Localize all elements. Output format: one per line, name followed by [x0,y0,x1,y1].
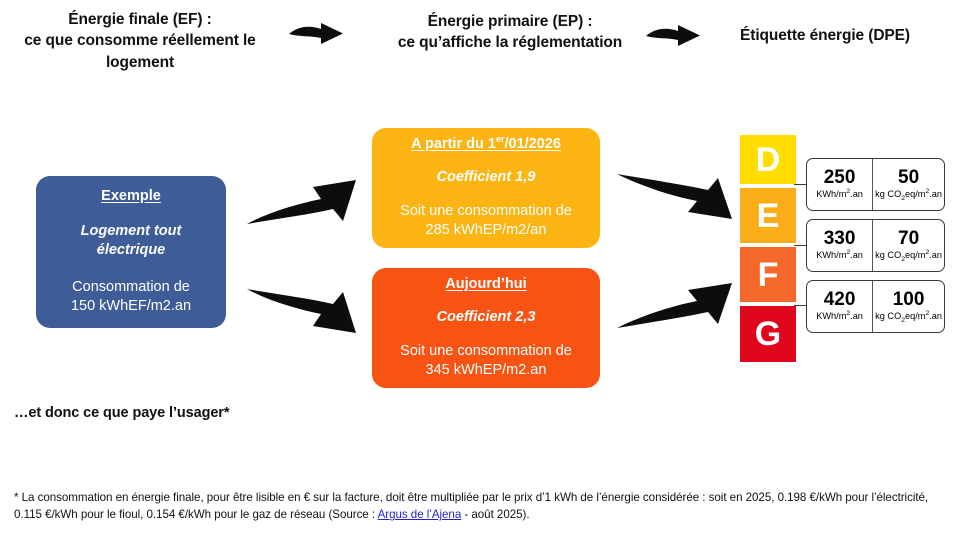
scenario-future-title-suffix: /01/2026 [504,136,560,152]
dpe-threshold-2-energy: 330 KWh/m2.an [807,220,872,271]
dpe-threshold-2-energy-unit: KWh/m2.an [816,250,863,261]
dpe-threshold-box-3[interactable]: 420 KWh/m2.an 100 kg CO2eq/m2.an [806,280,945,333]
arrow-orange-to-dpe [613,272,738,334]
dpe-threshold-1-energy-value: 250 [824,168,856,188]
dpe-threshold-2-co2: 70 kg CO2eq/m2.an [872,220,944,271]
scenario-future-consumption: Soit une consommation de 285 kWhEP/m2/an [400,202,572,240]
dpe-threshold-3-energy: 420 KWh/m2.an [807,281,872,332]
footnote-source-link[interactable]: Argus de l’Ajena [378,508,462,521]
example-box-title: Exemple [101,188,161,204]
dpe-threshold-3-co2-unit: kg CO2eq/m2.an [875,311,942,322]
scenario-today-title: Aujourd’hui [445,276,526,292]
dpe-letter-E[interactable]: E [740,188,796,243]
dpe-threshold-3-energy-unit: KWh/m2.an [816,311,863,322]
dpe-threshold-3-co2: 100 kg CO2eq/m2.an [872,281,944,332]
header-arrow-2 [645,22,701,52]
arrow-blue-to-yellow [243,168,363,230]
header-title-energie-primaire: Énergie primaire (EP) : ce qu’affiche la… [385,11,635,54]
dpe-threshold-1-co2-value: 50 [898,168,919,188]
dpe-threshold-2-co2-value: 70 [898,229,919,249]
dpe-threshold-box-1[interactable]: 250 KWh/m2.an 50 kg CO2eq/m2.an [806,158,945,211]
dpe-letter-D[interactable]: D [740,135,796,184]
scenario-future-title-prefix: A partir du 1 [411,136,496,152]
dpe-letter-F[interactable]: F [740,247,796,302]
header-title-etiquette-dpe: Étiquette énergie (DPE) [700,25,950,46]
header-arrow-1 [288,20,344,50]
example-box-consumption: Consommation de 150 kWhEF/m2.an [71,278,191,316]
dpe-threshold-box-2[interactable]: 330 KWh/m2.an 70 kg CO2eq/m2.an [806,219,945,272]
dpe-threshold-1-co2-unit: kg CO2eq/m2.an [875,189,942,200]
infographic-canvas: Énergie finale (EF) : ce que consomme ré… [0,0,960,544]
usager-caption: …et donc ce que paye l’usager* [14,405,229,421]
dpe-threshold-2-energy-value: 330 [824,229,856,249]
scenario-box-future[interactable]: A partir du 1er/01/2026 Coefficient 1,9 … [372,128,600,248]
dpe-threshold-3-co2-value: 100 [893,290,925,310]
scenario-box-today[interactable]: Aujourd’hui Coefficient 2,3 Soit une con… [372,268,600,388]
dpe-threshold-1-energy: 250 KWh/m2.an [807,159,872,210]
dpe-threshold-3-energy-value: 420 [824,290,856,310]
example-box-subtitle: Logement tout électrique [81,222,182,260]
footnote-part2: - août 2025). [461,508,529,521]
dpe-threshold-2-co2-unit: kg CO2eq/m2.an [875,250,942,261]
footnote: * La consommation en énergie finale, pou… [14,489,948,524]
header-title-energie-finale: Énergie finale (EF) : ce que consomme ré… [10,9,270,73]
scenario-today-coefficient: Coefficient 2,3 [437,309,536,325]
scenario-future-coefficient: Coefficient 1,9 [437,169,536,185]
arrow-yellow-to-dpe [613,168,738,230]
scenario-future-title: A partir du 1er/01/2026 [411,136,561,152]
example-box[interactable]: Exemple Logement tout électrique Consomm… [36,176,226,328]
scenario-today-title-prefix: Aujourd’hui [445,276,526,292]
dpe-letter-G[interactable]: G [740,306,796,362]
arrow-blue-to-orange [243,283,363,345]
dpe-threshold-1-energy-unit: KWh/m2.an [816,189,863,200]
scenario-today-consumption: Soit une consommation de 345 kWhEP/m2.an [400,342,572,380]
dpe-letter-strip: D E F G [740,135,796,355]
dpe-threshold-1-co2: 50 kg CO2eq/m2.an [872,159,944,210]
